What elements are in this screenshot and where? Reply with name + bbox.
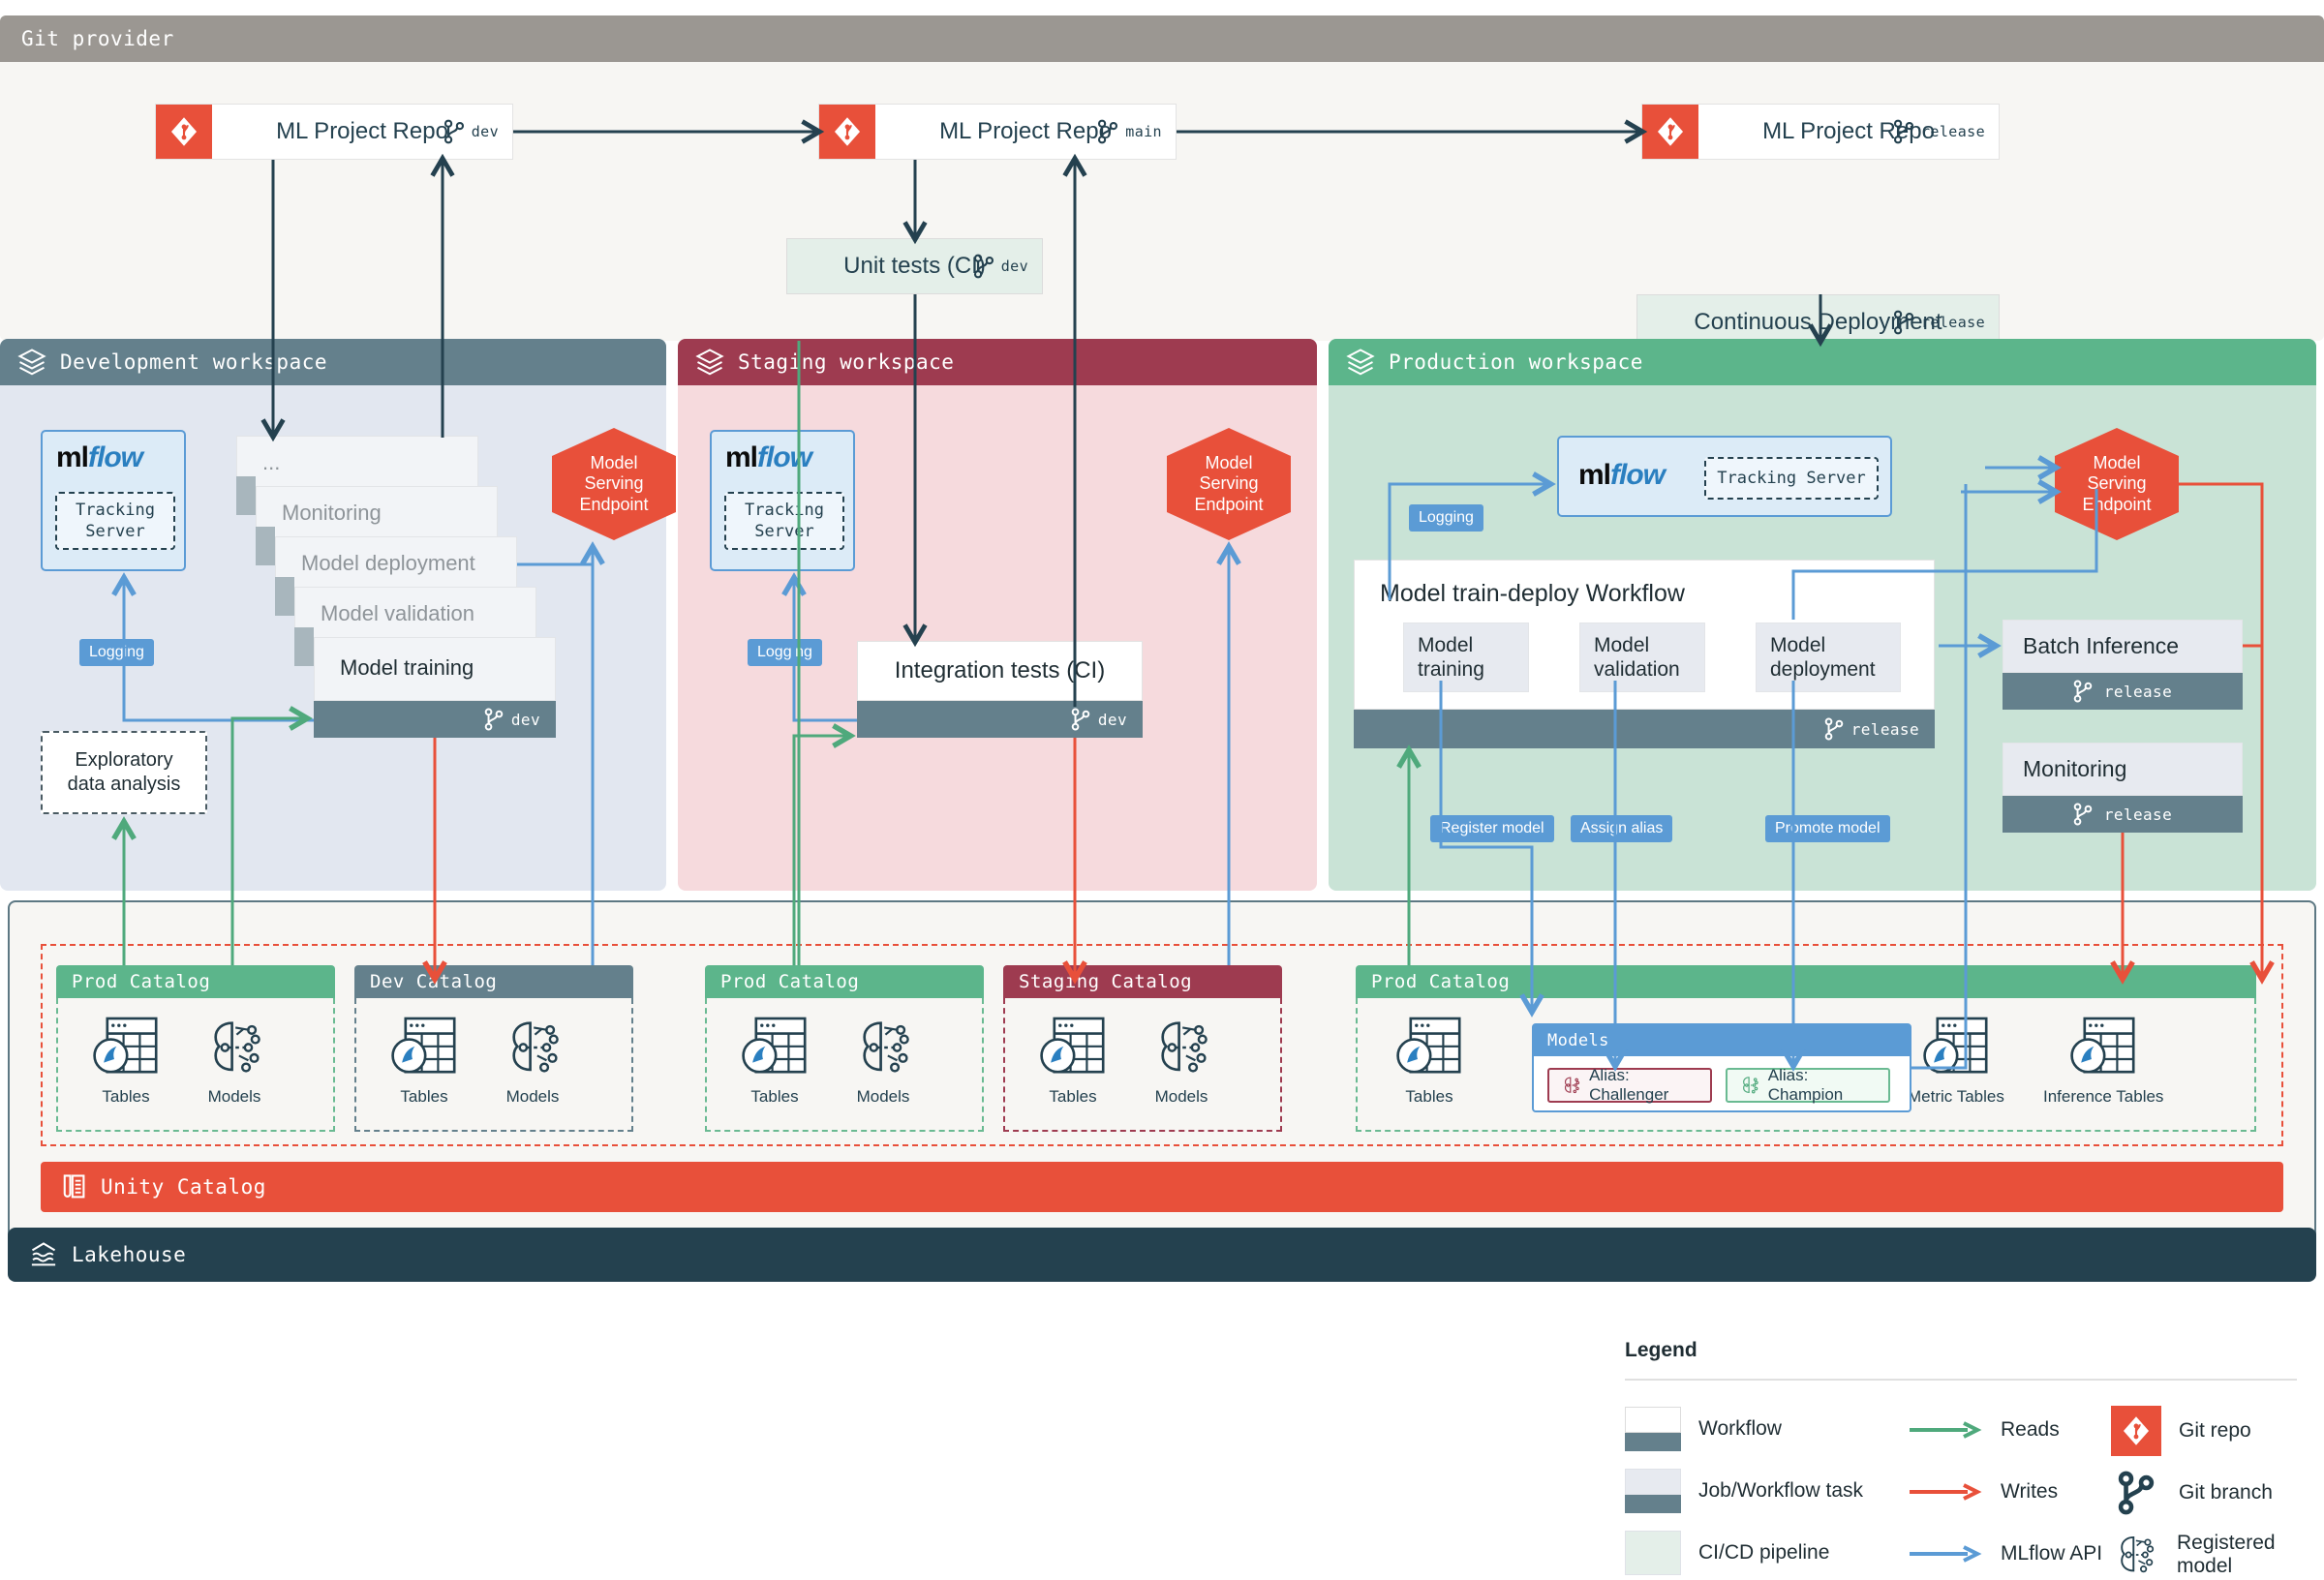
staging-integration-task-bar: dev: [857, 701, 1143, 738]
branch-badge: release: [1893, 119, 1985, 144]
asset-metric-tables[interactable]: Metric Tables: [1908, 1014, 2004, 1107]
dev-stack-card-training[interactable]: Model training: [314, 637, 556, 701]
dev-stack-card-monitoring[interactable]: Monitoring: [256, 486, 498, 542]
dev-stack-label: Model training: [340, 655, 474, 681]
legend-icon-git-repo: Git repo: [2111, 1406, 2251, 1456]
legend-arrow-reads: Reads: [1908, 1418, 2060, 1442]
workspace-production-header: Production workspace: [1329, 339, 2316, 385]
tables-icon: [1394, 1014, 1464, 1081]
lakehouse-bar-label: Lakehouse: [72, 1243, 186, 1266]
prod-tracking-server: Tracking Server: [1704, 457, 1879, 500]
branch-name: release: [2104, 805, 2172, 824]
alias-champion-label: Alias: Champion: [1768, 1066, 1877, 1105]
tables-icon: [740, 1014, 810, 1081]
git-provider-header: Git provider: [0, 15, 2324, 62]
prod-workflow-task-bar: release: [1354, 710, 1935, 748]
legend-divider: [1625, 1379, 2297, 1381]
branch-name: release: [1921, 123, 1985, 140]
branch-name: dev: [472, 123, 499, 140]
asset-models[interactable]: Models: [201, 1014, 267, 1107]
legend-label: Registered model: [2177, 1532, 2324, 1578]
git-repo-icon: [819, 105, 875, 159]
mlflow-logo: mlflow: [1578, 459, 1665, 492]
git-branch-icon: [1824, 717, 1844, 741]
git-provider-title: Git provider: [21, 27, 174, 50]
dev-stack-label: ...: [262, 450, 280, 475]
workspace-stack-icon: [695, 348, 724, 377]
tracking-server-label: TrackingServer: [745, 500, 824, 542]
serving-endpoint-label: ModelServingEndpoint: [2082, 453, 2151, 515]
workspace-development-title: Development workspace: [60, 350, 327, 374]
dev-eda-box[interactable]: Exploratorydata analysis: [41, 731, 207, 814]
legend-box-task: Job/Workflow task: [1625, 1469, 1863, 1513]
legend-icon-git-branch: Git branch: [2111, 1468, 2273, 1518]
repo-card-body: ML Project Repo release: [1698, 105, 1999, 159]
legend-label: Job/Workflow task: [1698, 1479, 1863, 1503]
prod-task-model-training[interactable]: Modeltraining: [1403, 623, 1529, 692]
legend-swatch-task: [1625, 1469, 1681, 1513]
repo-card-dev[interactable]: ML Project Repo dev: [155, 104, 513, 160]
workspace-staging: Staging workspace: [678, 339, 1317, 891]
prod-mlflow-panel: mlflow Tracking Server: [1557, 436, 1892, 517]
prod-train-deploy-workflow: Model train-deploy Workflow Modeltrainin…: [1354, 560, 1935, 710]
git-branch-icon: [484, 708, 504, 731]
legend-label: MLflow API: [2001, 1542, 2102, 1565]
tables-icon: [2068, 1014, 2138, 1081]
git-branch-icon: [2073, 680, 2093, 703]
branch-name: main: [1125, 123, 1162, 140]
git-repo-icon: [156, 105, 212, 159]
git-repo-icon: [2111, 1406, 2161, 1456]
legend-label: Git repo: [2179, 1419, 2251, 1443]
prod-logging-label: Logging: [1409, 504, 1483, 532]
legend-title: Legend: [1625, 1339, 1697, 1362]
staging-mlflow-panel: mlflow TrackingServer: [710, 430, 855, 571]
branch-name: release: [1851, 720, 1919, 739]
alias-challenger-label: Alias: Challenger: [1589, 1066, 1698, 1105]
legend-label: CI/CD pipeline: [1698, 1541, 1829, 1565]
registered-model-icon: [2111, 1530, 2159, 1580]
catalog-header: Prod Catalog: [705, 965, 984, 998]
stack-tab-stub: [294, 627, 314, 666]
asset-tables[interactable]: Tables: [1394, 1014, 1464, 1107]
branch-name: dev: [1098, 711, 1127, 729]
branch-name: dev: [511, 711, 540, 729]
stack-tab-stub: [256, 527, 275, 565]
branch-name: dev: [1001, 258, 1028, 275]
git-branch-icon: [443, 119, 465, 144]
prod-task-model-deployment[interactable]: Modeldeployment: [1756, 623, 1901, 692]
workspace-staging-header: Staging workspace: [678, 339, 1317, 385]
registered-model-icon: [1148, 1014, 1214, 1081]
unity-catalog-bar: Unity Catalog: [41, 1162, 2283, 1212]
stack-tab-stub: [236, 476, 256, 515]
unity-catalog-icon: [60, 1172, 87, 1201]
catalog-header: Prod Catalog: [1356, 965, 2256, 998]
git-branch-icon: [2111, 1468, 2161, 1518]
dev-logging-label: Logging: [79, 639, 154, 666]
catalog-staging: Staging Catalog Tables Models: [1003, 965, 1282, 1132]
workspace-development-header: Development workspace: [0, 339, 666, 385]
dev-stack-label: Monitoring: [282, 501, 382, 526]
git-repo-icon: [1642, 105, 1698, 159]
stack-tab-stub: [275, 577, 294, 616]
eda-label: Exploratorydata analysis: [68, 748, 181, 797]
git-branch-icon: [1097, 119, 1118, 144]
dev-stack-label: Model validation: [321, 601, 474, 626]
lakehouse-bar: Lakehouse: [8, 1228, 2316, 1282]
repo-title: ML Project Repo: [276, 118, 448, 145]
catalog-header: Dev Catalog: [354, 965, 633, 998]
legend-box-cicd: CI/CD pipeline: [1625, 1531, 1829, 1575]
asset-models[interactable]: Models: [500, 1014, 566, 1107]
branch-name: release: [1921, 314, 1985, 331]
branch-badge: dev: [443, 119, 499, 144]
unit-tests-box[interactable]: Unit tests (CI) dev: [786, 238, 1043, 294]
dev-tracking-server: TrackingServer: [55, 492, 175, 550]
prod-task-model-validation[interactable]: Modelvalidation: [1579, 623, 1705, 692]
diagram-canvas: Git provider ML Project Repo dev ML Proj…: [0, 0, 2324, 1576]
legend-label: Git branch: [2179, 1481, 2273, 1504]
tables-icon: [1038, 1014, 1108, 1081]
alias-champion[interactable]: Alias: Champion: [1726, 1068, 1890, 1103]
branch-badge: dev: [973, 254, 1028, 279]
registered-model-icon: [850, 1014, 916, 1081]
prod-register-model-label: Register model: [1430, 815, 1554, 842]
asset-inference-tables[interactable]: Inference Tables: [2043, 1014, 2163, 1107]
catalog-header: Staging Catalog: [1003, 965, 1282, 998]
asset-tables[interactable]: Tables: [389, 1014, 459, 1107]
dev-mlflow-panel: mlflow TrackingServer: [41, 430, 186, 571]
legend-swatch-workflow: [1625, 1407, 1681, 1451]
reads-arrow-icon: [1908, 1420, 1983, 1440]
registered-model-icon: [1561, 1074, 1581, 1097]
git-branch-icon: [1893, 119, 1914, 144]
legend-swatch-cicd: [1625, 1531, 1681, 1575]
staging-tracking-server: TrackingServer: [724, 492, 844, 550]
tables-icon: [91, 1014, 161, 1081]
tracking-server-label: TrackingServer: [76, 500, 155, 542]
workspace-staging-title: Staging workspace: [738, 350, 954, 374]
legend-box-workflow: Workflow: [1625, 1407, 1782, 1451]
writes-arrow-icon: [1908, 1482, 1983, 1502]
workspace-production-title: Production workspace: [1389, 350, 1643, 374]
asset-tables[interactable]: Tables: [91, 1014, 161, 1107]
legend-label: Workflow: [1698, 1417, 1782, 1441]
catalog-prod-dev: Prod Catalog Tables Models: [56, 965, 335, 1132]
asset-models[interactable]: Models: [850, 1014, 916, 1107]
prod-monitoring-task-bar: release: [2003, 796, 2243, 833]
tables-icon: [389, 1014, 459, 1081]
staging-logging-label: Logging: [748, 639, 822, 666]
prod-promote-model-label: Promote model: [1765, 815, 1890, 842]
mlflow-api-arrow-icon: [1908, 1544, 1983, 1564]
prod-workflow-title: Model train-deploy Workflow: [1380, 580, 1685, 608]
prod-models-panel: Models Alias: Challenger Alias: Champion: [1532, 1023, 1911, 1112]
workspace-stack-icon: [17, 348, 46, 377]
prod-monitoring-box[interactable]: Monitoring: [2003, 743, 2243, 796]
dev-stack-card-deployment[interactable]: Model deployment: [275, 536, 517, 592]
repo-card-body: ML Project Repo dev: [212, 105, 512, 159]
legend-icon-registered-model: Registered model: [2111, 1530, 2324, 1580]
catalog-dev: Dev Catalog Tables Models: [354, 965, 633, 1132]
repo-card-main[interactable]: ML Project Repo main: [818, 104, 1177, 160]
git-provider-panel: [0, 15, 2324, 341]
repo-card-release[interactable]: ML Project Repo release: [1641, 104, 2000, 160]
dev-stack-card-ellipsis[interactable]: ...: [236, 436, 478, 492]
catalog-prod-staging: Prod Catalog Tables Models: [705, 965, 984, 1132]
asset-models[interactable]: Models: [1148, 1014, 1214, 1107]
models-panel-header: Models: [1534, 1025, 1910, 1056]
tracking-server-label: Tracking Server: [1717, 468, 1866, 489]
dev-stack-label: Model deployment: [301, 551, 475, 576]
unit-tests-title: Unit tests (CI): [843, 253, 986, 280]
mlflow-logo: mlflow: [56, 441, 142, 474]
prod-assign-alias-label: Assign alias: [1571, 815, 1672, 842]
unity-catalog-bar-label: Unity Catalog: [101, 1175, 266, 1199]
git-branch-icon: [2073, 803, 2093, 826]
serving-endpoint-label: ModelServingEndpoint: [1194, 453, 1263, 515]
registered-model-icon: [1739, 1074, 1760, 1097]
git-branch-icon: [973, 254, 994, 279]
repo-title: ML Project Repo: [939, 118, 1112, 145]
prod-batch-inference-box[interactable]: Batch Inference: [2003, 620, 2243, 673]
branch-badge: main: [1097, 119, 1162, 144]
tables-icon: [1921, 1014, 1991, 1081]
staging-integration-tests-box[interactable]: Integration tests (CI): [857, 641, 1143, 701]
registered-model-icon: [201, 1014, 267, 1081]
legend-label: Writes: [2001, 1480, 2058, 1504]
lakehouse-icon: [29, 1240, 58, 1269]
asset-tables[interactable]: Tables: [1038, 1014, 1108, 1107]
catalog-header: Prod Catalog: [56, 965, 335, 998]
legend-arrow-writes: Writes: [1908, 1480, 2058, 1504]
git-branch-icon: [1071, 708, 1090, 731]
branch-badge: release: [1893, 310, 1985, 335]
branch-name: release: [2104, 683, 2172, 701]
dev-stack-card-validation[interactable]: Model validation: [294, 587, 536, 643]
workspace-stack-icon: [1346, 348, 1375, 377]
asset-tables[interactable]: Tables: [740, 1014, 810, 1107]
registered-model-icon: [500, 1014, 566, 1081]
prod-batch-inference-task-bar: release: [2003, 673, 2243, 710]
legend-arrow-mlflow-api: MLflow API: [1908, 1542, 2102, 1565]
integration-tests-title: Integration tests (CI): [895, 657, 1105, 684]
repo-card-body: ML Project Repo main: [875, 105, 1176, 159]
dev-training-task-bar: dev: [314, 701, 556, 738]
legend-label: Reads: [2001, 1418, 2060, 1442]
serving-endpoint-label: ModelServingEndpoint: [579, 453, 648, 515]
alias-challenger[interactable]: Alias: Challenger: [1547, 1068, 1712, 1103]
git-branch-icon: [1893, 310, 1914, 335]
mlflow-logo: mlflow: [725, 441, 811, 474]
